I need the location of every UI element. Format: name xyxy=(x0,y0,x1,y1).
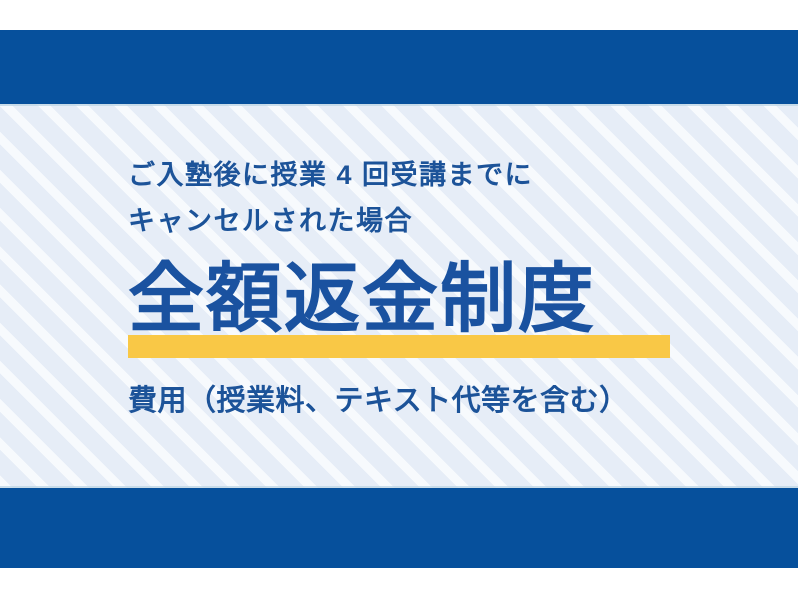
note-text: 費用（授業料、テキスト代等を含む） xyxy=(128,381,728,421)
headline-text: 全額返金制度 xyxy=(128,252,596,348)
headline-group: 全額返金制度 xyxy=(128,252,728,362)
top-blue-band xyxy=(0,30,798,104)
text-content-block: ご入塾後に授業 4 回受講までに キャンセルされた場合 全額返金制度 費用（授業… xyxy=(128,104,728,488)
bottom-blue-band xyxy=(0,488,798,568)
slide-canvas: ご入塾後に授業 4 回受講までに キャンセルされた場合 全額返金制度 費用（授業… xyxy=(0,0,798,599)
lead-line-1: ご入塾後に授業 4 回受講までに xyxy=(128,152,728,198)
lead-text: ご入塾後に授業 4 回受講までに キャンセルされた場合 xyxy=(128,152,728,244)
lead-line-2: キャンセルされた場合 xyxy=(128,198,728,244)
